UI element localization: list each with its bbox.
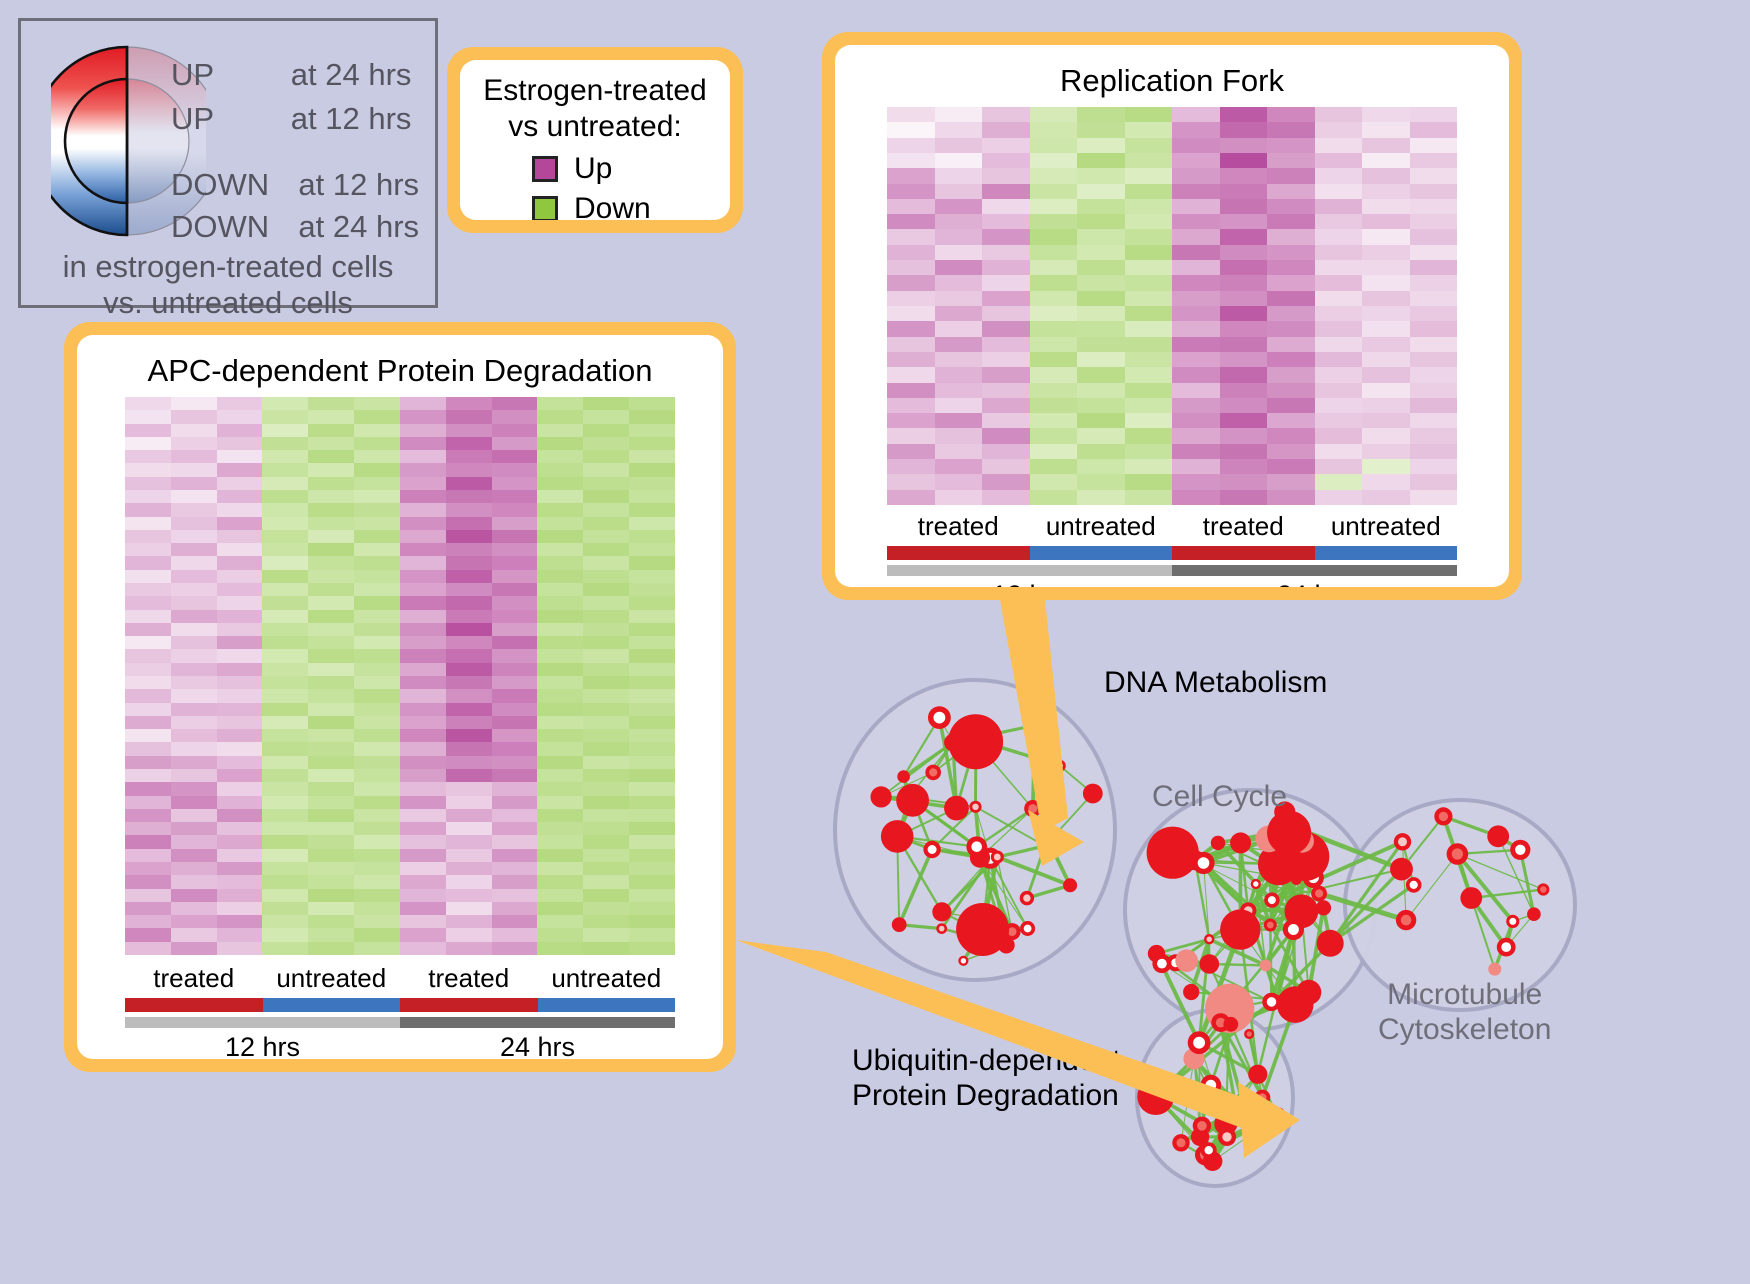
updown-legend-title-line2: vs untreated:: [460, 110, 730, 144]
condition-label: untreated: [1030, 511, 1173, 542]
time-label: 12 hrs: [125, 1032, 400, 1059]
axis-replication-fork: treated untreated treated untreated 12 h…: [887, 511, 1457, 587]
legend-row-up-12: UP at 12 hrs: [171, 101, 411, 137]
legend-item-up: Up: [532, 152, 612, 186]
color-scale-legend: UP at 24 hrs UP at 12 hrs DOWN at 12 hrs…: [18, 18, 438, 308]
network-label-microtubule-cytoskeleton: Microtubule Cytoskeleton: [1378, 978, 1551, 1048]
legend-row-up-24: UP at 24 hrs: [171, 57, 411, 93]
panel-title-replication-fork: Replication Fork: [835, 63, 1509, 99]
time-color-bar-apc: [125, 1017, 675, 1028]
legend-time-label: at 12 hrs: [291, 101, 412, 136]
time-labels-apc: 12 hrs 24 hrs: [125, 1032, 675, 1059]
condition-labels-replication-fork: treated untreated treated untreated: [887, 511, 1457, 542]
legend-time-label: at 24 hrs: [298, 209, 419, 244]
legend-row-down-24: DOWN at 24 hrs: [171, 209, 419, 245]
time-label: 12 hrs: [887, 580, 1172, 587]
legend-direction-label: UP: [171, 101, 214, 136]
pathway-network-graph: [760, 600, 1750, 1279]
panel-title-apc: APC-dependent Protein Degradation: [77, 353, 723, 389]
condition-color-bar-replication-fork: [887, 546, 1457, 560]
network-label-ubiquitin-dependent-protein-degradation: Ubiquitin-dependent Protein Degradation: [852, 1044, 1121, 1114]
condition-label: treated: [125, 963, 263, 994]
legend-time-label: at 24 hrs: [291, 57, 412, 92]
condition-label: treated: [400, 963, 538, 994]
heatmap-replication-fork: [887, 107, 1457, 505]
time-label: 24 hrs: [1172, 580, 1457, 587]
legend-item-up-label: Up: [574, 152, 612, 186]
legend-row-down-12: DOWN at 12 hrs: [171, 167, 419, 203]
heatmap-apc: [125, 397, 675, 955]
condition-label: untreated: [1315, 511, 1458, 542]
panel-apc-dependent-protein-degradation: APC-dependent Protein Degradation treate…: [64, 322, 736, 1072]
condition-label: treated: [887, 511, 1030, 542]
time-color-bar-replication-fork: [887, 565, 1457, 576]
updown-legend-title-line1: Estrogen-treated: [460, 74, 730, 108]
legend-direction-label: DOWN: [171, 167, 269, 202]
condition-labels-apc: treated untreated treated untreated: [125, 963, 675, 994]
legend-direction-label: DOWN: [171, 209, 269, 244]
condition-label: untreated: [263, 963, 401, 994]
legend-footer-line-2: vs. untreated cells: [21, 285, 435, 322]
legend-footer-line-1: in estrogen-treated cells: [21, 249, 435, 286]
legend-time-label: at 12 hrs: [298, 167, 419, 202]
legend-item-down-label: Down: [574, 192, 651, 220]
condition-label: treated: [1172, 511, 1315, 542]
time-label: 24 hrs: [400, 1032, 675, 1059]
up-down-color-legend-panel: Estrogen-treated vs untreated: Up Down: [447, 47, 743, 233]
time-labels-replication-fork: 12 hrs 24 hrs: [887, 580, 1457, 587]
condition-color-bar-apc: [125, 998, 675, 1012]
legend-item-down: Down: [532, 192, 651, 220]
legend-direction-label: UP: [171, 57, 214, 92]
condition-label: untreated: [538, 963, 676, 994]
axis-apc: treated untreated treated untreated 12 h…: [125, 963, 675, 1059]
network-label-dna-metabolism: DNA Metabolism: [1104, 666, 1327, 701]
up-color-swatch: [532, 156, 558, 182]
network-label-cell-cycle: Cell Cycle: [1152, 780, 1287, 815]
panel-replication-fork: Replication Fork treated untreated treat…: [822, 32, 1522, 600]
down-color-swatch: [532, 196, 558, 220]
